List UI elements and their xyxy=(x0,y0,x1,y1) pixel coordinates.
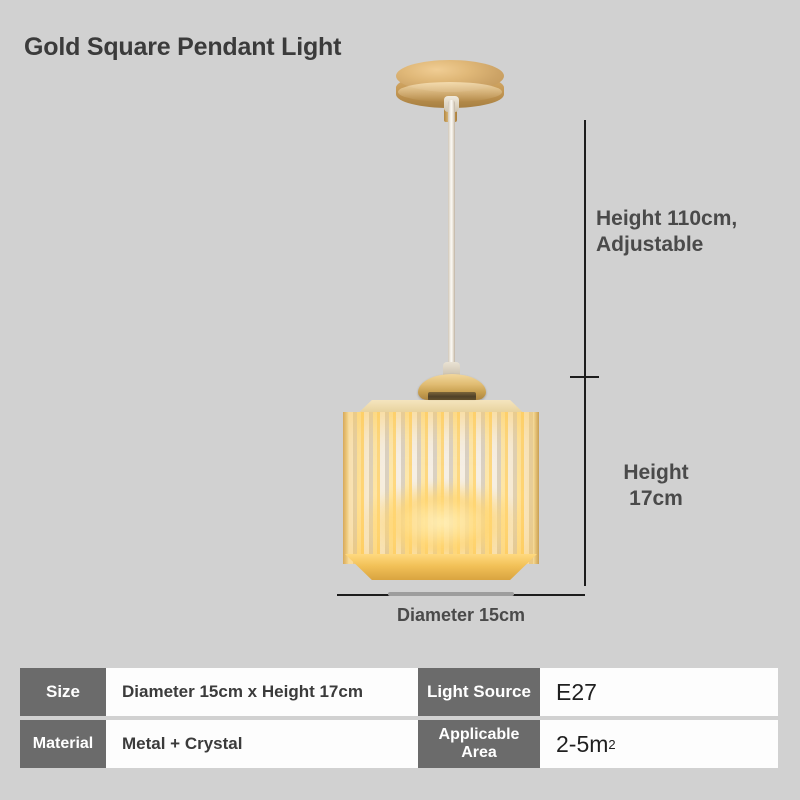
vertical-measure-tick xyxy=(570,376,599,378)
spec-value-size: Diameter 15cm x Height 17cm xyxy=(106,668,418,716)
shade-height-line2: 17cm xyxy=(596,486,716,512)
total-height-line2: Adjustable xyxy=(596,232,796,258)
shade-height-label: Height 17cm xyxy=(596,460,716,511)
spec-value-light-source: E27 xyxy=(540,668,778,716)
shade-left-edge xyxy=(343,412,349,564)
diameter-measure-span xyxy=(388,592,514,596)
spec-key-material: Material xyxy=(20,720,106,768)
applicable-area-value: 2-5m xyxy=(556,731,608,758)
spec-key-applicable-area: Applicable Area xyxy=(418,720,540,768)
shade-height-line1: Height xyxy=(596,460,716,486)
shade-right-edge xyxy=(533,412,539,564)
vertical-measure-line xyxy=(584,120,586,586)
diameter-label: Diameter 15cm xyxy=(337,605,585,627)
spec-value-applicable-area: 2-5m2 xyxy=(540,720,778,768)
applicable-area-line1: Applicable xyxy=(439,726,520,744)
applicable-area-unit-sup: 2 xyxy=(608,737,615,752)
table-row: Material Metal + Crystal Applicable Area… xyxy=(20,720,778,768)
shade-inner-glow xyxy=(363,482,521,556)
spec-key-size: Size xyxy=(20,668,106,716)
applicable-area-line2: Area xyxy=(439,744,520,762)
page-title: Gold Square Pendant Light xyxy=(24,33,341,62)
spec-table: Size Diameter 15cm x Height 17cm Light S… xyxy=(20,668,778,772)
total-height-label: Height 110cm, Adjustable xyxy=(596,206,796,257)
total-height-line1: Height 110cm, xyxy=(596,206,796,232)
product-image-canvas: Gold Square Pendant Light Height 110cm, … xyxy=(0,0,800,800)
suspension-cord xyxy=(448,100,455,372)
spec-key-light-source: Light Source xyxy=(418,668,540,716)
crystal-cube-shade xyxy=(337,396,545,582)
shade-base-face xyxy=(345,554,537,580)
spec-value-material: Metal + Crystal xyxy=(106,720,418,768)
table-row: Size Diameter 15cm x Height 17cm Light S… xyxy=(20,668,778,716)
